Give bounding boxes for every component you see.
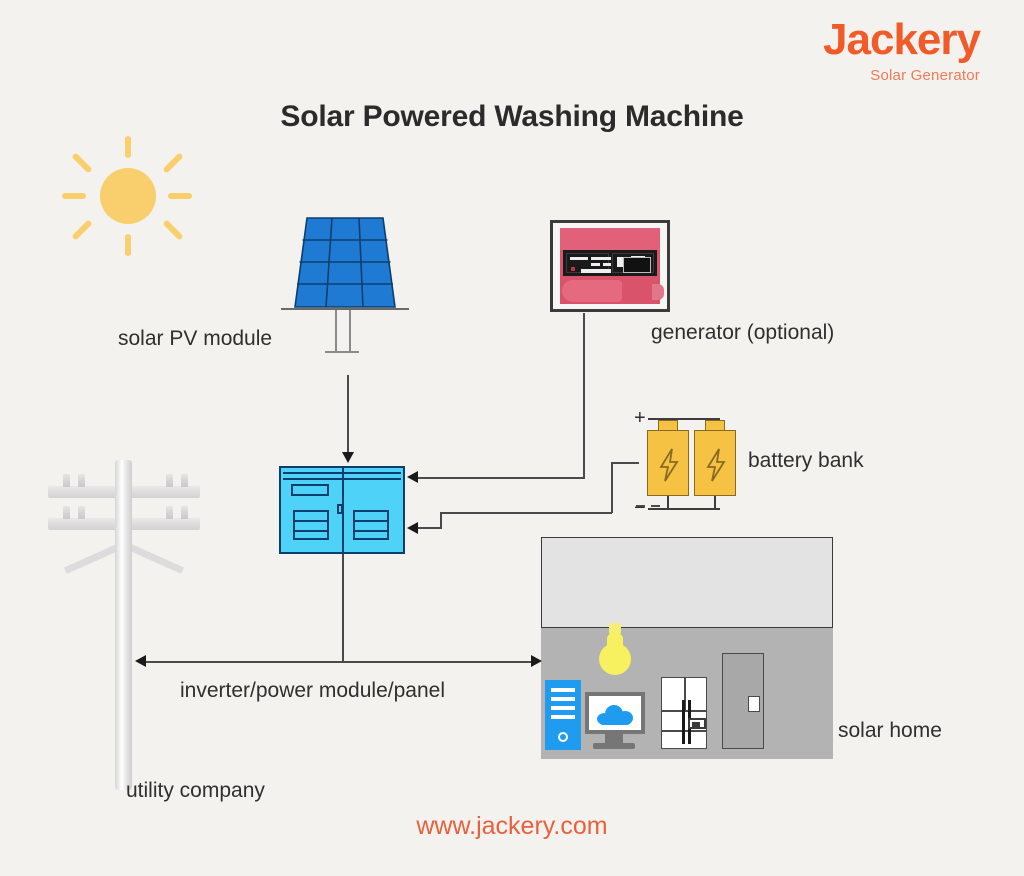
sun-ray-n (125, 136, 131, 158)
generator-label: generator (optional) (651, 321, 834, 345)
wire-generator-down (583, 313, 585, 479)
arrow-inverter-to-home (531, 655, 542, 667)
cloud-icon (597, 705, 633, 723)
jackery-logo: Jackery Solar Generator (823, 18, 980, 84)
battery-icon: + − (634, 408, 754, 518)
battery-wire-bottom-2 (714, 496, 716, 510)
sun-core (100, 168, 156, 224)
inverter-box (279, 466, 405, 554)
panel-base (325, 351, 359, 353)
wire-battery-left (440, 512, 612, 514)
footer-url[interactable]: www.jackery.com (0, 812, 1024, 841)
battery-positive-sign: + (634, 408, 646, 428)
solar-panel-icon (275, 215, 415, 355)
inverter-handle (337, 504, 343, 514)
sun-icon (62, 136, 192, 256)
door-icon (722, 653, 764, 749)
monitor-base (593, 743, 635, 749)
wire-inverter-to-utility (146, 661, 344, 663)
door-knob (748, 696, 760, 712)
page-title: Solar Powered Washing Machine (0, 100, 1024, 134)
panel-pole-left (335, 310, 337, 352)
utility-pole-icon (48, 460, 208, 790)
generator-icon (550, 220, 670, 312)
arrow-battery-to-inverter (407, 522, 418, 534)
generator-control-panel (563, 250, 657, 276)
wire-battery-neg-dash-1 (636, 505, 645, 507)
brand-tagline: Solar Generator (823, 67, 980, 84)
wire-battery-to-inverter (418, 527, 442, 529)
wire-battery-neg-dash-2 (651, 505, 660, 507)
wire-inverter-down (342, 554, 344, 662)
generator-gauges-right (612, 253, 655, 273)
insulator-7 (166, 506, 173, 519)
pc-tower-icon (545, 680, 581, 750)
sun-ray-e (168, 193, 192, 199)
pole-brace-right (125, 542, 184, 574)
utility-company-label: utility company (126, 779, 265, 803)
diagram-canvas: Jackery Solar Generator Solar Powered Wa… (0, 0, 1024, 876)
insulator-3 (166, 474, 173, 487)
generator-top (560, 228, 660, 250)
battery-cell-2 (694, 430, 736, 496)
solar-panel-svg (275, 215, 415, 310)
wire-inverter-to-home (342, 661, 534, 663)
insulator-2 (78, 474, 85, 487)
battery-wire-bottom-1 (667, 496, 669, 510)
solar-pv-module-label: solar PV module (118, 327, 272, 351)
sun-ray-se (162, 219, 183, 240)
generator-gauges-left (566, 253, 609, 273)
solar-home-label: solar home (838, 719, 942, 743)
insulator-8 (181, 506, 188, 519)
inverter-label: inverter/power module/panel (180, 679, 445, 703)
bolt-icon (695, 431, 737, 497)
power-button-icon (558, 732, 568, 742)
insulator-6 (78, 506, 85, 519)
wire-pv-to-inverter (347, 375, 349, 457)
insulator-5 (63, 506, 70, 519)
inverter-breaker-right (353, 510, 389, 540)
sun-ray-sw (71, 219, 92, 240)
battery-wire-bottom (648, 508, 720, 510)
panel-mount-bar (281, 308, 409, 310)
arrow-generator-to-inverter (407, 471, 418, 483)
light-bulb-icon (599, 643, 631, 675)
bolt-icon (648, 431, 690, 497)
battery-bank-label: battery bank (748, 449, 864, 473)
battery-negative-sign: − (634, 498, 646, 518)
arrow-pv-to-inverter (342, 452, 354, 463)
wire-battery-down (611, 462, 613, 513)
panel-pole-right (349, 310, 351, 352)
wire-battery-stub (611, 462, 639, 464)
inverter-panel-icon (279, 466, 405, 554)
insulator-1 (63, 474, 70, 487)
sun-ray-w (62, 193, 86, 199)
inverter-breaker-left (293, 510, 329, 540)
pole-mast (115, 460, 132, 790)
sun-ray-s (125, 234, 131, 256)
generator-body (560, 228, 660, 304)
arrow-inverter-to-utility (135, 655, 146, 667)
brand-name: Jackery (823, 18, 980, 62)
battery-cell-1 (647, 430, 689, 496)
inverter-display (291, 484, 329, 496)
generator-drum-mid (624, 282, 652, 302)
generator-drum (562, 280, 622, 302)
insulator-4 (181, 474, 188, 487)
generator-drum-end (652, 284, 664, 300)
house-icon (541, 537, 833, 759)
wire-generator-to-inverter (418, 477, 585, 479)
sun-ray-nw (71, 152, 92, 173)
sun-ray-ne (162, 152, 183, 173)
refrigerator-icon (661, 677, 707, 749)
